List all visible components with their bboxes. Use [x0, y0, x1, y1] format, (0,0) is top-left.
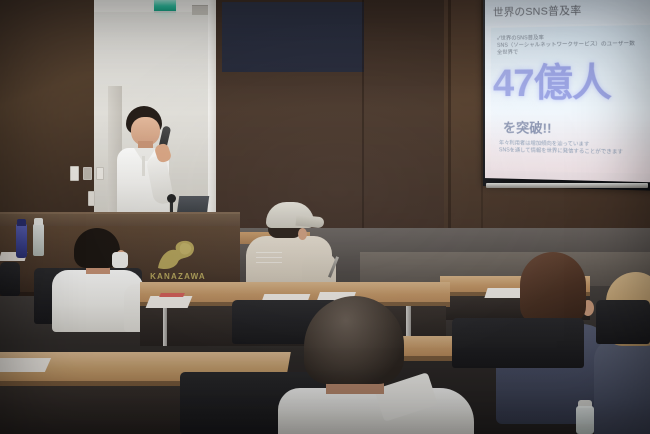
blue-tumbler-cap — [17, 219, 26, 226]
attendee-hair — [304, 296, 404, 384]
desk-leg — [163, 306, 167, 346]
handout-paper — [0, 358, 51, 372]
wall-outlet — [88, 191, 95, 206]
seminar-room-photo: 世界のSNS普及率 ✓世界のSNS普及率 SNS（ソーシャルネットワークサービス… — [0, 0, 650, 434]
slide-breakthrough-text: を突破!! — [503, 117, 552, 137]
wall-seam — [448, 0, 451, 240]
water-bottle-cap — [34, 218, 43, 225]
venue-logo: KANAZAWA — [140, 238, 216, 288]
light-switch-plate[interactable] — [96, 167, 104, 180]
slide-title: 世界のSNS普及率 — [493, 1, 650, 20]
attendee-top — [594, 338, 650, 434]
slide-headline: 47億人 — [493, 63, 650, 105]
water-bottle — [576, 406, 594, 434]
water-bottle — [33, 224, 44, 256]
attendee-cap-ear — [298, 228, 307, 240]
wall-acoustic-panel — [222, 2, 364, 72]
slide-subtitle: ✓世界のSNS普及率 SNS（ソーシャルネットワークサービス）のユーザー数 全世… — [497, 33, 650, 57]
blue-tumbler — [16, 224, 27, 258]
kanazawa-mark-icon — [154, 238, 198, 272]
hoodie-print — [256, 252, 282, 266]
screen-bottom-bar — [486, 183, 648, 188]
presenter-placket — [142, 156, 145, 176]
slide-subtitle-line-3: 全世界で — [497, 48, 650, 57]
attendee-light-hair — [600, 272, 650, 434]
attendee-foreground — [282, 296, 462, 434]
attendee-white-shirt-mask — [46, 228, 150, 332]
projection-screen: 世界のSNS普及率 ✓世界のSNS普及率 SNS（ソーシャルネットワークサービス… — [483, 0, 650, 191]
venue-logo-text: KANAZAWA — [140, 272, 216, 281]
slide-footnote: 年々利用者は増加傾向を辿っています SNSを通して情報を世界に発信することができ… — [499, 140, 650, 158]
presentation-slide: 世界のSNS普及率 ✓世界のSNS普及率 SNS（ソーシャルネットワークサービス… — [485, 0, 650, 182]
wall-control-panel[interactable] — [83, 167, 92, 180]
presenter-figure — [108, 106, 188, 218]
chair[interactable] — [596, 300, 650, 344]
handout-paper — [146, 296, 193, 308]
light-switch-plate[interactable] — [70, 166, 79, 181]
microphone-head-icon — [167, 194, 176, 203]
chair[interactable] — [452, 318, 584, 368]
wall-seam — [362, 0, 364, 240]
exit-sign-icon — [154, 0, 176, 13]
chair[interactable] — [0, 262, 20, 296]
handout-paper-red — [159, 293, 185, 297]
wall-panel-left — [0, 0, 96, 232]
face-mask-icon — [112, 252, 128, 268]
